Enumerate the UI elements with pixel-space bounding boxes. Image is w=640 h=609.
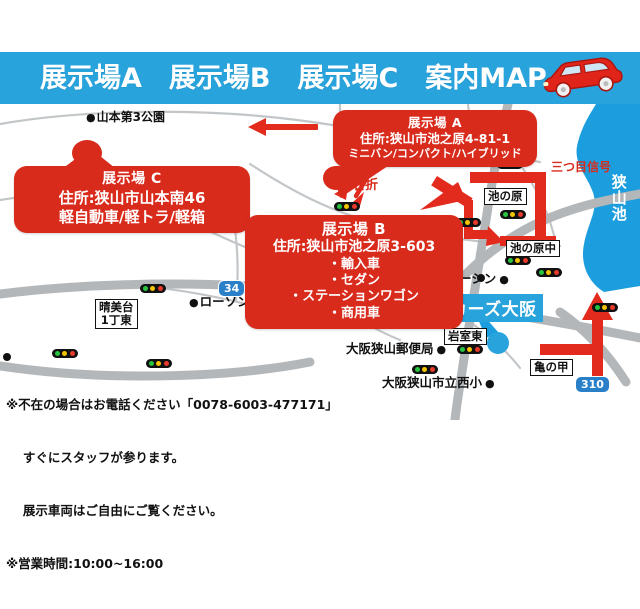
footnote-line-4: ※営業時間:10:00~16:00 bbox=[6, 555, 338, 573]
label-osaka-sayama-post-office: 大阪狭山郵便局 bbox=[346, 342, 446, 356]
label-yamamoto-park: 山本第3公園 bbox=[86, 111, 165, 124]
label-ikenohara-naka: 池の原中 bbox=[506, 240, 560, 257]
traffic-signal-icon bbox=[52, 349, 78, 358]
header-banner: 展示場A 展示場B 展示場C 案内MAP bbox=[0, 52, 640, 104]
label-harumidai-1cho-higashi: 晴美台 1丁東 bbox=[95, 299, 138, 329]
label-ikenohara: 池の原 bbox=[484, 188, 527, 205]
footnote-block: ※不在の場合はお電話ください「0078-6003-477171」 すぐにスタッフ… bbox=[6, 360, 338, 609]
callout-tenjijo-b[interactable]: 展示場 B 住所:狭山市池之原3-603 ・輸入車 ・セダン ・ステーションワゴ… bbox=[245, 215, 463, 329]
callout-a-tail bbox=[336, 166, 396, 200]
callout-tenjijo-c[interactable]: 展示場 C 住所:狭山市山本南46 軽自動車/軽トラ/軽箱 bbox=[14, 166, 250, 233]
traffic-signal-icon bbox=[505, 256, 531, 265]
label-harumidai-line1: 晴美台 bbox=[99, 301, 134, 314]
traffic-signal-icon bbox=[412, 365, 438, 374]
route-shield-310: 310 bbox=[575, 376, 610, 393]
callout-c-address: 住所:狭山市山本南46 bbox=[24, 189, 240, 208]
callout-a-address: 住所:狭山市池之原4-81-1 bbox=[343, 131, 527, 147]
label-kamenoko: 亀の甲 bbox=[530, 359, 573, 376]
traffic-signal-icon bbox=[457, 345, 483, 354]
label-third-signal: 三つ目信号 bbox=[551, 158, 611, 175]
traffic-signal-icon bbox=[140, 284, 166, 293]
traffic-signal-icon bbox=[500, 210, 526, 219]
cars-osaka-poi-dot bbox=[487, 332, 509, 354]
callout-b-item: ・セダン bbox=[255, 273, 453, 289]
traffic-signal-icon bbox=[592, 303, 618, 312]
label-harumidai-line2: 1丁東 bbox=[99, 314, 134, 327]
callout-b-item: ・ステーションワゴン bbox=[255, 289, 453, 305]
traffic-signal-icon bbox=[536, 268, 562, 277]
callout-tenjijo-a[interactable]: 展示場 A 住所:狭山市池之原4-81-1 ミニバン/コンパクト/ハイブリッド bbox=[333, 110, 537, 167]
callout-a-categories: ミニバン/コンパクト/ハイブリッド bbox=[343, 147, 527, 161]
red-minivan-icon bbox=[536, 56, 628, 102]
route-shield-34: 34 bbox=[218, 280, 245, 297]
footnote-line-1: ※不在の場合はお電話ください「0078-6003-477171」 bbox=[6, 396, 338, 414]
callout-b-address: 住所:狭山市池之原3-603 bbox=[255, 239, 453, 257]
callout-c-title: 展示場 C bbox=[24, 171, 240, 189]
map-flyer: 展示場A 展示場B 展示場C 案内MAP bbox=[0, 0, 640, 480]
callout-b-item: ・商用車 bbox=[255, 306, 453, 322]
callout-c-categories: 軽自動車/軽トラ/軽箱 bbox=[24, 208, 240, 227]
label-osaka-sayama-nishi-elementary: 大阪狭山市立西小 bbox=[382, 376, 495, 390]
label-iwamuro-higashi: 岩室東 bbox=[444, 328, 487, 345]
traffic-signal-icon bbox=[334, 202, 360, 211]
label-sayamaike: 狭山池 bbox=[609, 174, 627, 222]
footnote-line-3: 展示車両はご自由にご覧ください。 bbox=[6, 502, 338, 520]
label-lawson: ローソン bbox=[189, 295, 250, 309]
callout-b-item: ・輸入車 bbox=[255, 257, 453, 273]
callout-b-title: 展示場 B bbox=[255, 220, 453, 239]
footnote-line-2: すぐにスタッフが参ります。 bbox=[6, 449, 338, 467]
callout-a-title: 展示場 A bbox=[343, 115, 527, 131]
page-title: 展示場A 展示場B 展示場C 案内MAP bbox=[40, 65, 547, 92]
